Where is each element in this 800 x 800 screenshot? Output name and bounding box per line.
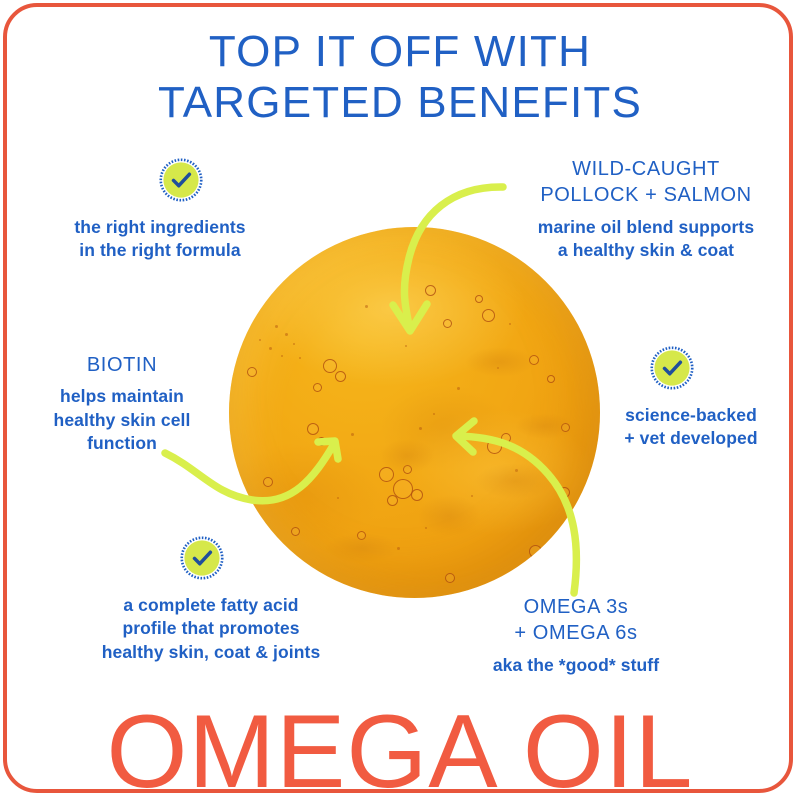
oil-bubble (317, 437, 326, 446)
headline-line-2: TARGETED BENEFITS (0, 77, 800, 128)
callout-wildcaught: WILD-CAUGHT POLLOCK + SALMON marine oil … (506, 156, 786, 263)
headline-line-1: TOP IT OFF WITH (0, 26, 800, 77)
oil-speckle (281, 355, 283, 357)
oil-speckle (457, 387, 460, 390)
oil-bubble (445, 573, 455, 583)
oil-bubble (263, 477, 273, 487)
oil-speckle (509, 323, 511, 325)
oil-smear (515, 413, 575, 439)
oil-speckle (285, 333, 288, 336)
check-badge-icon (159, 158, 203, 202)
oil-bubble (425, 285, 436, 296)
omega-oil-droplet-image (229, 227, 600, 598)
callout-science-body: science-backed + vet developed (592, 404, 790, 451)
oil-bubble (313, 383, 322, 392)
callout-ingredients: the right ingredients in the right formu… (42, 216, 278, 263)
oil-bubble (547, 375, 555, 383)
omega-oil-wordmark: OMEGA OIL (0, 700, 800, 800)
oil-bubble (443, 319, 452, 328)
oil-speckle (405, 345, 407, 347)
callout-fatty-acid: a complete fatty acid profile that promo… (66, 594, 356, 664)
oil-bubble (487, 439, 502, 454)
oil-speckle (351, 433, 354, 436)
infographic-canvas: TOP IT OFF WITH TARGETED BENEFITS (0, 0, 800, 800)
callout-science: science-backed + vet developed (592, 404, 790, 451)
oil-bubble (387, 495, 398, 506)
callout-biotin-heading: BIOTIN (24, 352, 220, 378)
oil-bubble (335, 371, 346, 382)
oil-smear (325, 533, 399, 563)
oil-bubble (543, 555, 552, 564)
oil-smear (465, 347, 535, 377)
callout-biotin-body: helps maintain healthy skin cell functio… (24, 385, 220, 455)
callout-omegas: OMEGA 3s + OMEGA 6s aka the *good* stuff (440, 594, 712, 677)
oil-smear (417, 495, 481, 537)
oil-speckle (471, 495, 473, 497)
oil-speckle (365, 305, 368, 308)
check-badge-icon (180, 536, 224, 580)
page-title: TOP IT OFF WITH TARGETED BENEFITS (0, 26, 800, 128)
oil-speckle (259, 339, 261, 341)
oil-bubble (501, 433, 511, 443)
oil-smear (475, 463, 555, 499)
oil-bubble (323, 359, 337, 373)
oil-bubble (307, 423, 319, 435)
oil-speckle (269, 347, 272, 350)
oil-speckle (275, 325, 278, 328)
oil-smear (379, 439, 435, 473)
oil-speckle (337, 497, 339, 499)
check-badge-icon (650, 346, 694, 390)
callout-omegas-heading: OMEGA 3s + OMEGA 6s (440, 594, 712, 647)
oil-speckle (293, 343, 295, 345)
oil-bubble (559, 487, 570, 498)
callout-wildcaught-body: marine oil blend supports a healthy skin… (506, 216, 786, 263)
oil-speckle (419, 427, 422, 430)
oil-bubble (482, 309, 495, 322)
oil-bubble (529, 545, 542, 558)
oil-speckle (299, 357, 301, 359)
oil-bubble (411, 489, 423, 501)
callout-fatty-acid-body: a complete fatty acid profile that promo… (66, 594, 356, 664)
oil-bubble (291, 527, 300, 536)
oil-speckle (433, 413, 435, 415)
callout-biotin: BIOTIN helps maintain healthy skin cell … (24, 352, 220, 456)
callout-wildcaught-heading: WILD-CAUGHT POLLOCK + SALMON (506, 156, 786, 209)
callout-omegas-body: aka the *good* stuff (440, 654, 712, 677)
oil-bubble (475, 295, 483, 303)
callout-ingredients-body: the right ingredients in the right formu… (42, 216, 278, 263)
oil-bubble (247, 367, 257, 377)
